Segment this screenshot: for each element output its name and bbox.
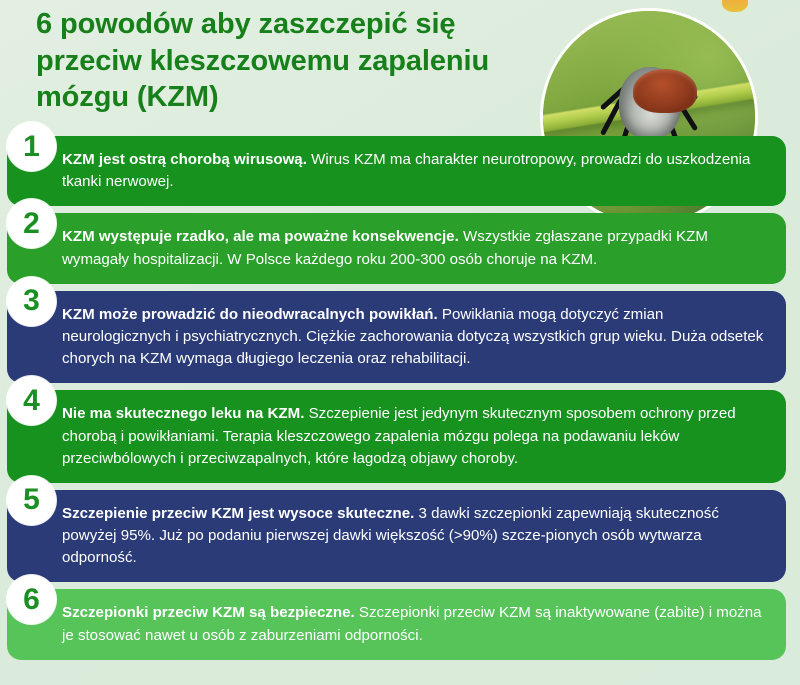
- page-title: 6 powodów aby zaszczepić się przeciw kle…: [36, 6, 536, 116]
- item-band: Szczepienie przeciw KZM jest wysoce skut…: [7, 490, 786, 583]
- item-number-badge: 3: [7, 277, 56, 326]
- item-band: KZM jest ostrą chorobą wirusową. Wirus K…: [7, 136, 786, 206]
- list-item: 6 Szczepionki przeciw KZM są bezpieczne.…: [0, 589, 800, 659]
- item-lead-text: Szczepienie przeciw KZM jest wysoce skut…: [62, 505, 414, 522]
- item-band: Szczepionki przeciw KZM są bezpieczne. S…: [7, 589, 786, 659]
- item-number-badge: 4: [7, 376, 56, 425]
- list-item: 2 KZM występuje rzadko, ale ma poważne k…: [0, 213, 800, 283]
- item-number-badge: 1: [7, 122, 56, 171]
- item-lead-text: Nie ma skutecznego leku na KZM.: [62, 405, 304, 422]
- item-number-badge: 5: [7, 476, 56, 525]
- item-band: KZM występuje rzadko, ale ma poważne kon…: [7, 213, 786, 283]
- list-item: 4 Nie ma skutecznego leku na KZM. Szczep…: [0, 390, 800, 483]
- list-item: 1 KZM jest ostrą chorobą wirusową. Wirus…: [0, 136, 800, 206]
- item-lead-text: Szczepionki przeciw KZM są bezpieczne.: [62, 604, 355, 621]
- item-lead-text: KZM jest ostrą chorobą wirusową.: [62, 151, 307, 168]
- tick-abdomen: [619, 67, 681, 139]
- list-item: 3 KZM może prowadzić do nieodwracalnych …: [0, 291, 800, 384]
- item-lead-text: KZM może prowadzić do nieodwracalnych po…: [62, 306, 438, 323]
- infographic-poster: 6 powodów aby zaszczepić się przeciw kle…: [0, 0, 800, 685]
- item-band: Nie ma skutecznego leku na KZM. Szczepie…: [7, 390, 786, 483]
- list-item: 5 Szczepienie przeciw KZM jest wysoce sk…: [0, 490, 800, 583]
- item-band: KZM może prowadzić do nieodwracalnych po…: [7, 291, 786, 384]
- reasons-list: 1 KZM jest ostrą chorobą wirusową. Wirus…: [0, 136, 800, 667]
- item-lead-text: KZM występuje rzadko, ale ma poważne kon…: [62, 228, 459, 245]
- tick-shield: [633, 69, 697, 113]
